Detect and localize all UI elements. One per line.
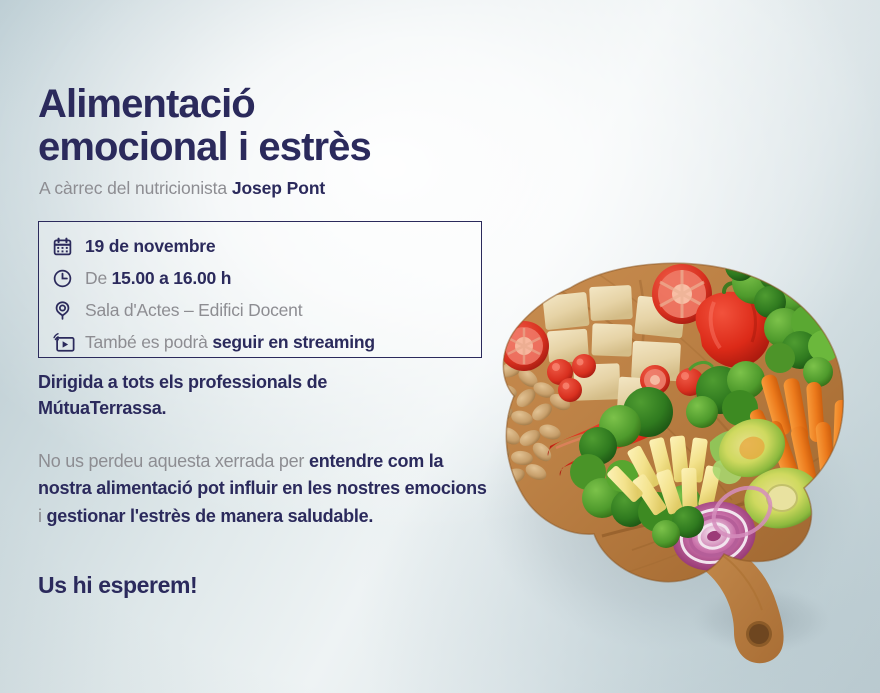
detail-time-text: De 15.00 a 16.00 h xyxy=(82,268,231,289)
poster-canvas: Alimentació emocional i estrès A càrrec … xyxy=(0,0,880,693)
calendar-icon xyxy=(52,233,82,259)
closing-line: Us hi esperem! xyxy=(38,572,197,599)
audience-line-2: MútuaTerrassa. xyxy=(38,398,166,418)
audience-line-1: Dirigida a tots els professionals de xyxy=(38,372,327,392)
page-title: Alimentació emocional i estrès xyxy=(38,83,508,169)
description-paragraph: No us perdeu aquesta xerrada per entendr… xyxy=(38,448,488,530)
byline-prefix: A càrrec del nutricionista xyxy=(39,178,232,198)
detail-location-text: Sala d'Actes – Edifici Docent xyxy=(82,300,302,321)
detail-date-text: 19 de novembre xyxy=(82,236,215,257)
paragraph-lead: No us perdeu aquesta xerrada per xyxy=(38,451,309,471)
clock-icon xyxy=(52,265,82,291)
paragraph-bold-2: gestionar l'estrès de manera saludable. xyxy=(47,506,374,526)
detail-row-location: Sala d'Actes – Edifici Docent xyxy=(52,295,481,325)
title-line-1: Alimentació xyxy=(38,82,255,126)
poster-text-column: Alimentació emocional i estrès A càrrec … xyxy=(38,0,508,693)
detail-row-date: 19 de novembre xyxy=(52,231,481,261)
location-pin-icon xyxy=(52,297,82,323)
audience-statement: Dirigida a tots els professionals de Mút… xyxy=(38,370,478,421)
event-details-box: 19 de novembre De 15.00 a 16.00 h xyxy=(38,221,482,358)
detail-time-prefix: De xyxy=(85,268,112,288)
detail-streaming-text: També es podrà seguir en streaming xyxy=(82,332,375,353)
food-brain-image xyxy=(452,250,880,670)
detail-row-time: De 15.00 a 16.00 h xyxy=(52,263,481,293)
streaming-icon xyxy=(52,329,82,355)
detail-row-streaming: També es podrà seguir en streaming xyxy=(52,327,481,357)
detail-streaming-value: seguir en streaming xyxy=(212,332,375,352)
speaker-byline: A càrrec del nutricionista Josep Pont xyxy=(39,178,325,199)
speaker-name: Josep Pont xyxy=(232,178,325,198)
title-line-2: emocional i estrès xyxy=(38,126,508,169)
paragraph-conjunction: i xyxy=(38,506,47,526)
detail-time-value: 15.00 a 16.00 h xyxy=(112,268,232,288)
detail-streaming-prefix: També es podrà xyxy=(85,332,212,352)
